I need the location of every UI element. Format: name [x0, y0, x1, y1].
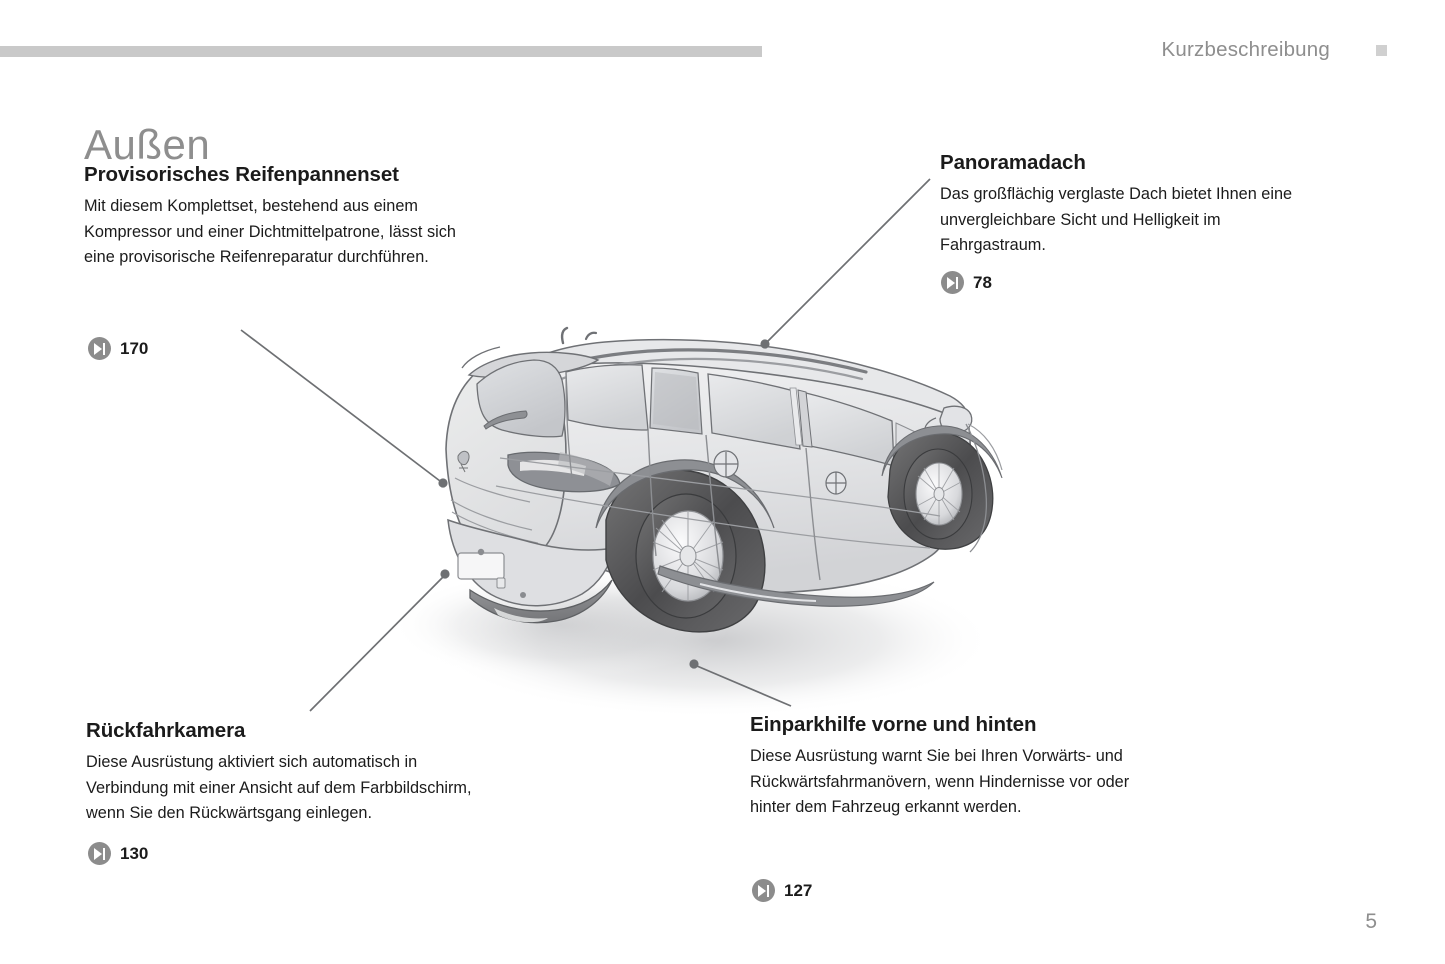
header-rule — [0, 46, 762, 57]
feature-block-parking-assistance: Einparkhilfe vorne und hinten Diese Ausr… — [750, 713, 1150, 821]
skip-forward-icon — [752, 879, 775, 902]
feature-heading: Einparkhilfe vorne und hinten — [750, 713, 1150, 737]
page-reference-reversing-camera[interactable]: 130 — [88, 842, 148, 865]
page-reference-number: 127 — [784, 881, 812, 901]
feature-heading: Panoramadach — [940, 151, 1320, 175]
square-marker-icon — [1376, 45, 1387, 56]
feature-heading: Provisorisches Reifenpannenset — [84, 163, 484, 187]
page-reference-panoramic-roof[interactable]: 78 — [941, 271, 992, 294]
feature-heading: Rückfahrkamera — [86, 719, 486, 743]
folio-page-number: 5 — [1365, 910, 1377, 934]
page-reference-number: 170 — [120, 339, 148, 359]
skip-forward-icon — [88, 842, 111, 865]
skip-forward-icon — [941, 271, 964, 294]
feature-block-tyre-repair-kit: Provisorisches Reifenpannenset Mit diese… — [84, 163, 484, 271]
feature-block-reversing-camera: Rückfahrkamera Diese Ausrüstung aktivier… — [86, 719, 486, 827]
page-reference-number: 78 — [973, 273, 992, 293]
feature-body: Das großflächig verglaste Dach bietet Ih… — [940, 182, 1320, 259]
page-reference-number: 130 — [120, 844, 148, 864]
feature-body: Diese Ausrüstung aktiviert sich automati… — [86, 750, 486, 827]
page-reference-parking-assistance[interactable]: 127 — [752, 879, 812, 902]
header-section-title: Kurzbeschreibung — [1162, 38, 1330, 62]
feature-body: Mit diesem Komplettset, bestehend aus ei… — [84, 194, 484, 271]
feature-block-panoramic-roof: Panoramadach Das großflächig verglaste D… — [940, 151, 1320, 259]
feature-body: Diese Ausrüstung warnt Sie bei Ihren Vor… — [750, 744, 1150, 821]
page-reference-tyre-repair-kit[interactable]: 170 — [88, 337, 148, 360]
skip-forward-icon — [88, 337, 111, 360]
page-title: Außen — [84, 121, 210, 169]
